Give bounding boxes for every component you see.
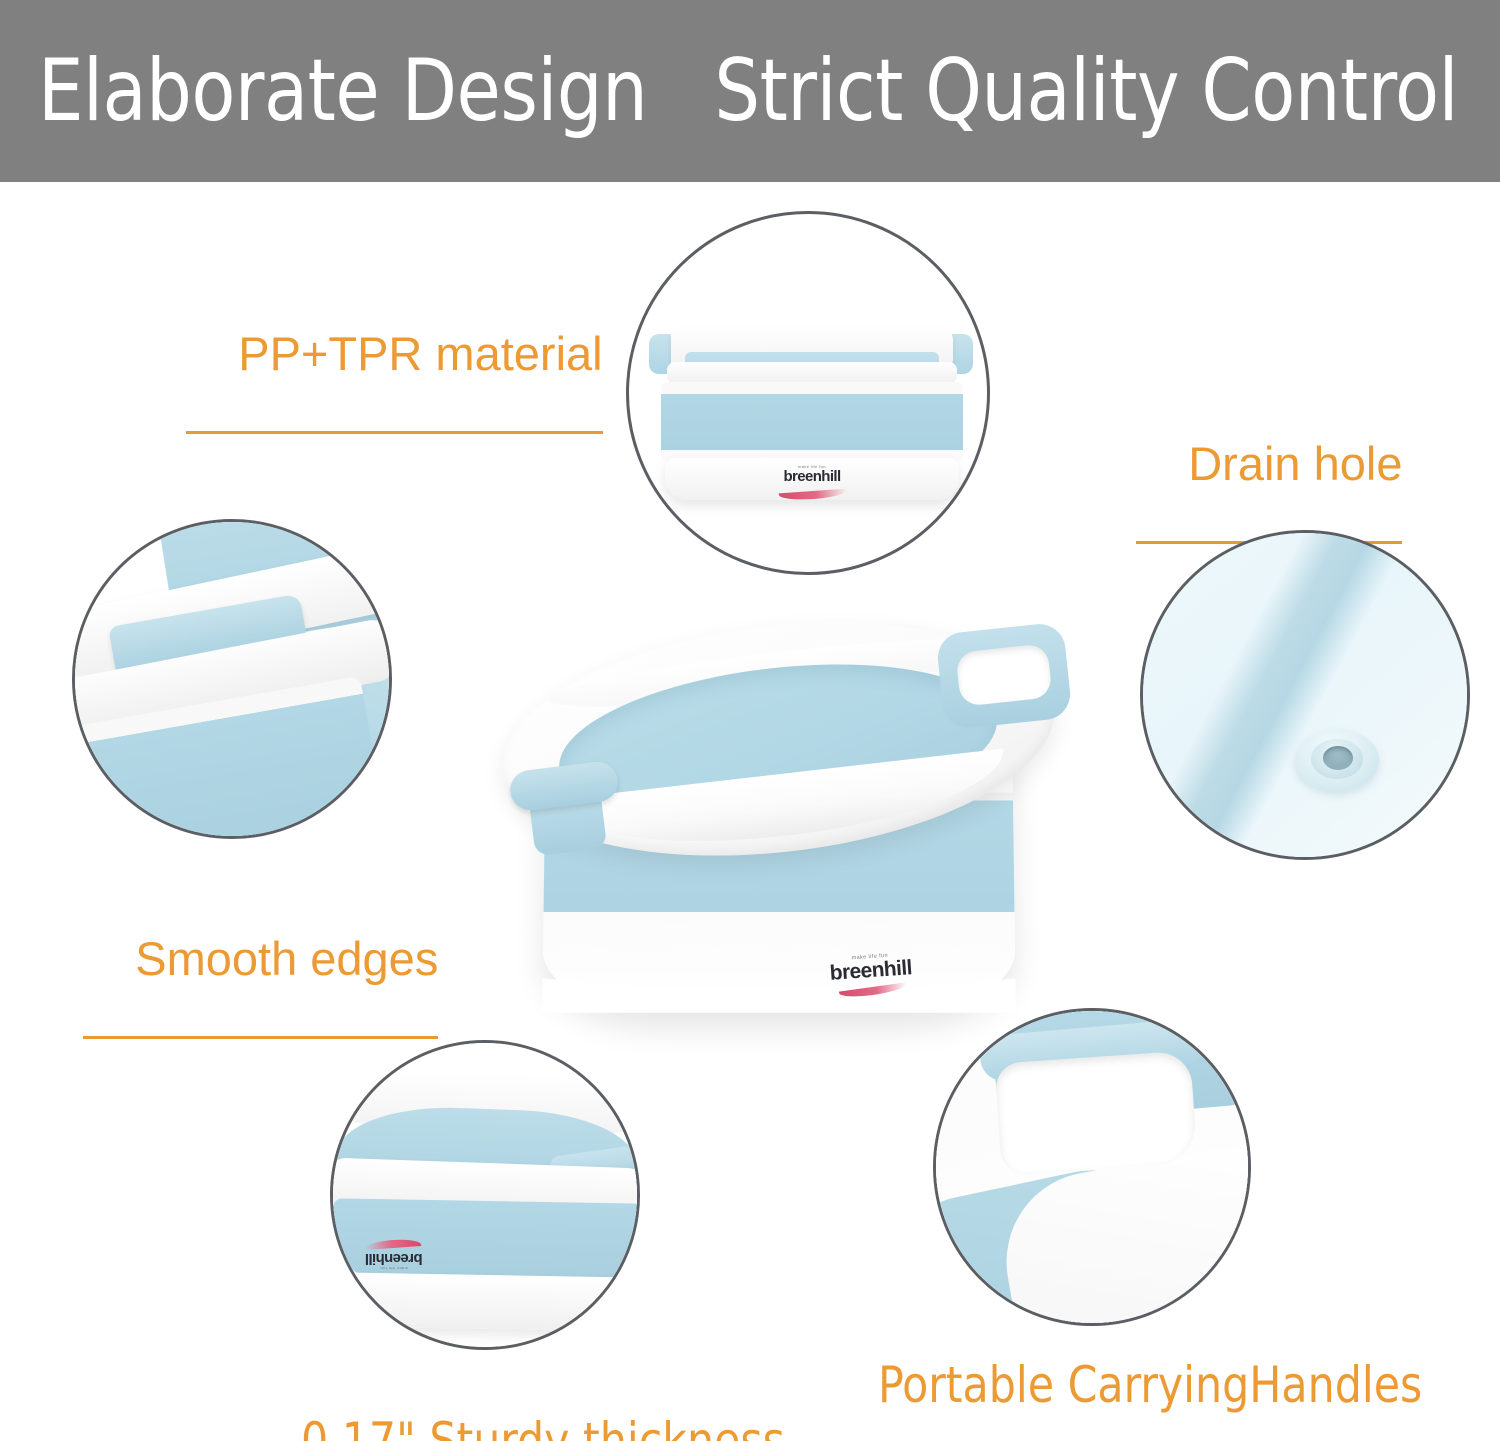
feature-label-handles-text: Portable CarryingHandles — [878, 1360, 1422, 1417]
brand-logo-inverted: make life fun breenhill — [349, 1241, 439, 1271]
feature-image-handles — [933, 1008, 1251, 1326]
handles-artwork — [936, 1011, 1248, 1323]
feature-label-thickness: 0.17" Sturdy thickness — [245, 1366, 810, 1441]
feature-image-material: make life fun breenhill — [626, 211, 990, 575]
feature-underline-material — [186, 431, 603, 434]
feature-label-thickness-text: 0.17" Sturdy thickness — [301, 1416, 785, 1441]
basket-collapsible-band — [661, 382, 963, 466]
infographic-canvas: Elaborate Design Strict Quality Control … — [0, 0, 1500, 1441]
feature-image-smooth — [72, 519, 392, 839]
brand-logo-main: make life fun breenhill — [815, 950, 928, 998]
brand-wordmark: breenhill — [757, 469, 867, 485]
drain-artwork — [1143, 533, 1467, 857]
feature-label-drain-text: Drain hole — [1188, 440, 1402, 494]
feature-label-smooth-text: Smooth edges — [135, 935, 438, 989]
header-banner: Elaborate Design Strict Quality Control — [0, 0, 1500, 182]
feature-image-drain — [1140, 530, 1470, 860]
page-title: Elaborate Design Strict Quality Control — [38, 36, 1377, 146]
feature-image-thickness: make life fun breenhill — [330, 1040, 640, 1350]
material-artwork: make life fun breenhill — [629, 214, 987, 572]
thickness-artwork: make life fun breenhill — [333, 1043, 637, 1347]
basket-rim-lip — [667, 362, 957, 384]
brand-wordmark: breenhill — [349, 1250, 439, 1266]
drain-hole-icon — [1323, 746, 1353, 770]
feature-underline-smooth — [83, 1036, 438, 1039]
brand-logo: make life fun breenhill — [757, 464, 867, 498]
main-product-image: make life fun breenhill — [486, 606, 1106, 1026]
collapsed-basket-illustration: make life fun breenhill — [645, 326, 977, 506]
feature-label-material: PP+TPR material — [186, 283, 603, 528]
feature-label-handles: Portable CarryingHandles — [822, 1310, 1451, 1441]
basket-base-detail — [341, 1272, 634, 1331]
feature-label-material-text: PP+TPR material — [238, 330, 602, 384]
smooth-edges-artwork — [75, 522, 389, 836]
product-handle-right-cutout — [955, 643, 1052, 706]
handle-cutout-hole — [994, 1050, 1197, 1175]
